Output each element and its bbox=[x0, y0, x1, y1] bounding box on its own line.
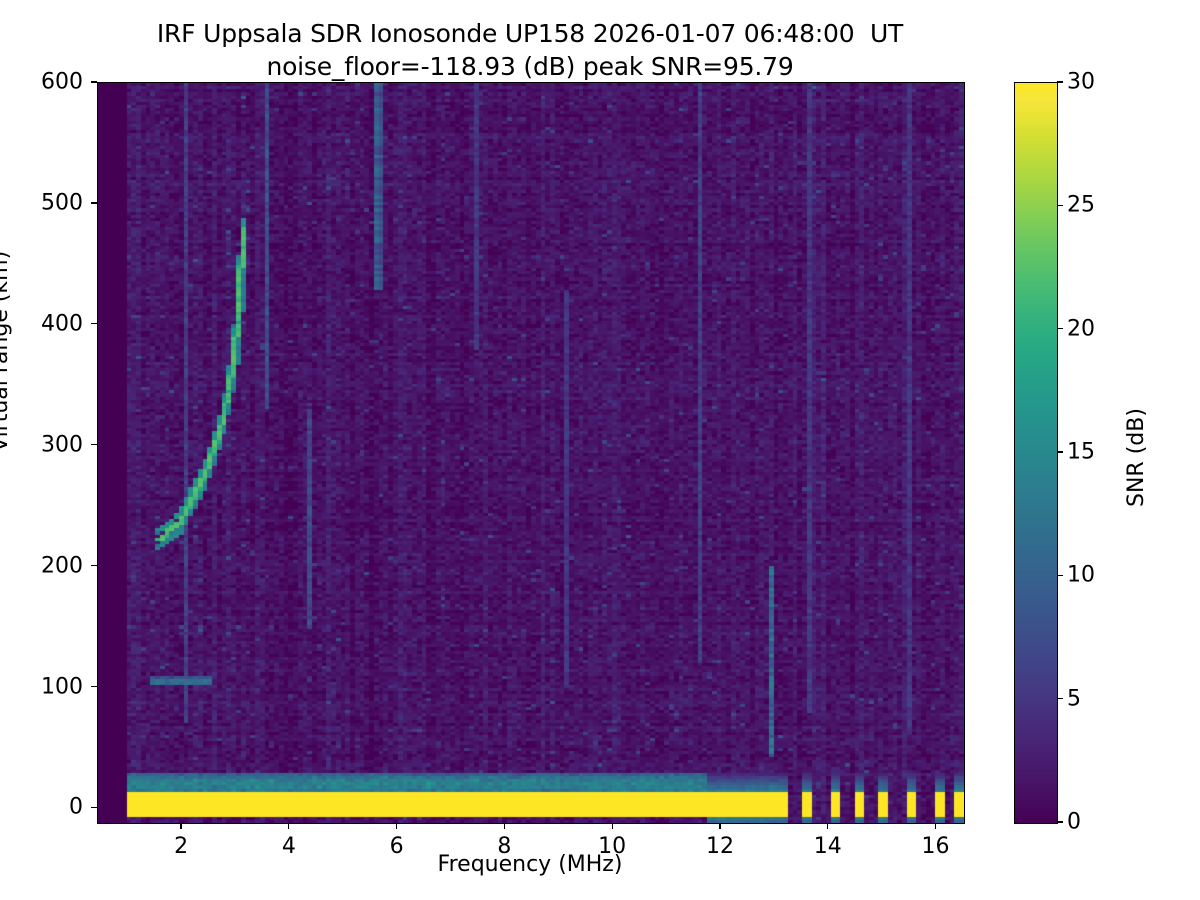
colorbar-tick-mark bbox=[1057, 451, 1063, 452]
colorbar-tick-label: 10 bbox=[1067, 563, 1137, 588]
x-tick-mark bbox=[827, 823, 828, 829]
y-tick-mark bbox=[91, 202, 97, 203]
y-tick-label: 400 bbox=[13, 311, 83, 336]
x-tick-mark bbox=[288, 823, 289, 829]
y-axis-label: Virtual range (km) bbox=[0, 251, 13, 452]
colorbar-tick-label: 30 bbox=[1067, 70, 1137, 95]
colorbar-tick-label: 0 bbox=[1067, 810, 1137, 835]
y-tick-label: 200 bbox=[13, 553, 83, 578]
y-tick-label: 300 bbox=[13, 432, 83, 457]
x-tick-mark bbox=[612, 823, 613, 829]
title-line-1: IRF Uppsala SDR Ionosonde UP158 2026-01-… bbox=[0, 18, 1060, 51]
colorbar-canvas bbox=[1015, 83, 1057, 823]
x-tick-label: 8 bbox=[464, 834, 544, 859]
x-tick-label: 6 bbox=[357, 834, 437, 859]
colorbar-tick-mark bbox=[1057, 821, 1063, 822]
x-tick-label: 14 bbox=[788, 834, 868, 859]
colorbar-tick-mark bbox=[1057, 328, 1063, 329]
title-line-2: noise_floor=-118.93 (dB) peak SNR=95.79 bbox=[0, 51, 1060, 84]
y-tick-mark bbox=[91, 81, 97, 82]
colorbar-tick-label: 5 bbox=[1067, 686, 1137, 711]
x-tick-label: 4 bbox=[249, 834, 329, 859]
colorbar-tick-label: 25 bbox=[1067, 193, 1137, 218]
y-tick-label: 0 bbox=[13, 795, 83, 820]
x-tick-mark bbox=[935, 823, 936, 829]
x-tick-mark bbox=[396, 823, 397, 829]
ionogram-canvas[interactable] bbox=[98, 83, 964, 823]
y-tick-mark bbox=[91, 444, 97, 445]
y-tick-mark bbox=[91, 323, 97, 324]
colorbar-tick-mark bbox=[1057, 205, 1063, 206]
y-tick-mark bbox=[91, 807, 97, 808]
y-tick-mark bbox=[91, 686, 97, 687]
y-tick-mark bbox=[91, 565, 97, 566]
y-tick-label: 600 bbox=[13, 70, 83, 95]
colorbar-tick-mark bbox=[1057, 81, 1063, 82]
x-tick-label: 16 bbox=[896, 834, 976, 859]
colorbar[interactable] bbox=[1014, 82, 1058, 824]
x-tick-mark bbox=[180, 823, 181, 829]
y-tick-label: 500 bbox=[13, 190, 83, 215]
ionogram-plot-area[interactable] bbox=[97, 82, 965, 824]
colorbar-tick-label: 20 bbox=[1067, 316, 1137, 341]
colorbar-tick-mark bbox=[1057, 698, 1063, 699]
colorbar-tick-label: 15 bbox=[1067, 440, 1137, 465]
x-tick-mark bbox=[719, 823, 720, 829]
ionogram-figure: IRF Uppsala SDR Ionosonde UP158 2026-01-… bbox=[0, 0, 1200, 900]
x-tick-mark bbox=[504, 823, 505, 829]
x-tick-label: 2 bbox=[141, 834, 221, 859]
x-tick-label: 10 bbox=[572, 834, 652, 859]
figure-title: IRF Uppsala SDR Ionosonde UP158 2026-01-… bbox=[0, 18, 1060, 83]
x-tick-label: 12 bbox=[680, 834, 760, 859]
y-tick-label: 100 bbox=[13, 674, 83, 699]
colorbar-tick-mark bbox=[1057, 575, 1063, 576]
